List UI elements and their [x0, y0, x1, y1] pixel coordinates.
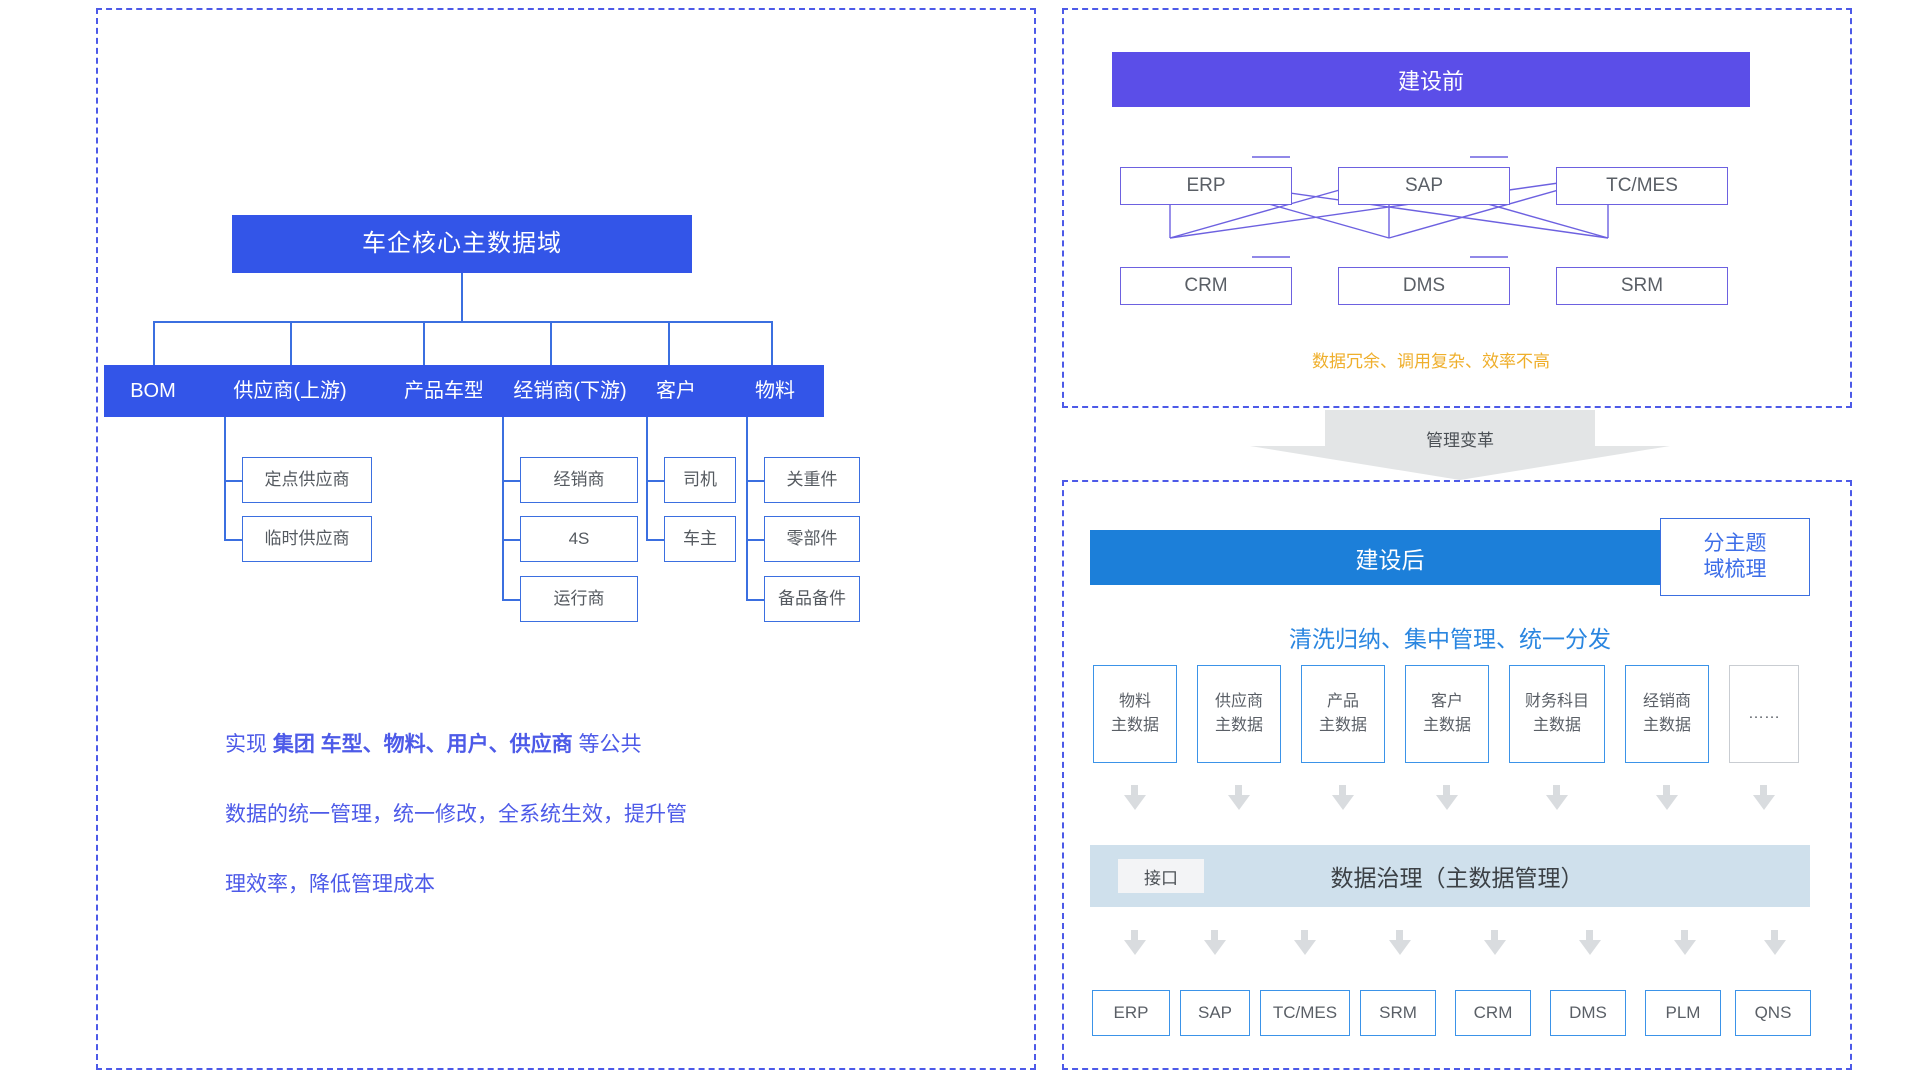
card-line-1: 物料 — [1111, 690, 1159, 714]
tree-connector — [290, 321, 292, 365]
flow-arrow-down-icon — [1546, 795, 1568, 810]
before-title: 建设前 — [1112, 52, 1750, 107]
tree-node-label: 产品车型 — [404, 380, 484, 403]
card-line-2: 主数据 — [1525, 714, 1589, 738]
flow-arrow-stem — [1339, 785, 1346, 795]
tree-connector — [771, 321, 773, 365]
card-line-1: 财务科目 — [1525, 690, 1589, 714]
tree-node-customer[interactable]: 客户 — [626, 365, 726, 417]
tree-node-material[interactable]: 物料 — [726, 365, 824, 417]
flow-arrow-stem — [1396, 930, 1403, 940]
flow-arrow-down-icon — [1294, 940, 1316, 955]
tree-connector — [746, 599, 764, 601]
target-system-dms[interactable]: DMS — [1550, 990, 1626, 1036]
flow-arrow-down-icon — [1753, 795, 1775, 810]
tree-leaf-temp-supplier[interactable]: 临时供应商 — [242, 516, 372, 562]
tree-leaf-label: 车主 — [683, 529, 717, 549]
tree-connector — [502, 539, 520, 541]
tree-connector — [153, 321, 771, 323]
tree-connector — [423, 321, 425, 365]
tree-leaf-owner[interactable]: 车主 — [664, 516, 736, 562]
tree-connector — [502, 480, 520, 482]
flow-arrow-stem — [1663, 785, 1670, 795]
tree-connector — [746, 480, 764, 482]
governance-bar: 接口 数据治理（主数据管理） — [1090, 845, 1810, 907]
target-system-tcmes[interactable]: TC/MES — [1260, 990, 1350, 1036]
system-label: DMS — [1403, 275, 1445, 297]
before-system-sap[interactable]: SAP — [1338, 167, 1510, 205]
card-line-2: 主数据 — [1643, 714, 1691, 738]
tree-leaf-operator[interactable]: 运行商 — [520, 576, 638, 622]
flow-arrow-down-icon — [1204, 940, 1226, 955]
flow-arrow-down-icon — [1228, 795, 1250, 810]
tree-connector — [746, 417, 748, 600]
system-label: SRM — [1621, 275, 1663, 297]
flow-arrow-down-icon — [1656, 795, 1678, 810]
flow-arrow-down-icon — [1484, 940, 1506, 955]
before-system-erp[interactable]: ERP — [1120, 167, 1292, 205]
tree-connector — [153, 321, 155, 365]
card-line-2: 主数据 — [1319, 714, 1367, 738]
target-system-plm[interactable]: PLM — [1645, 990, 1721, 1036]
system-label: SAP — [1405, 175, 1443, 197]
tree-node-bom[interactable]: BOM — [104, 365, 202, 417]
system-label: ERP — [1114, 1003, 1149, 1023]
summary-highlight: 集团 车型、物料、用户、供应商 — [273, 733, 573, 756]
flow-arrow-down-icon — [1436, 795, 1458, 810]
tree-leaf-label: 备品备件 — [778, 589, 846, 609]
tree-leaf-4s[interactable]: 4S — [520, 516, 638, 562]
flow-arrow-stem — [1131, 785, 1138, 795]
after-subtitle: 清洗归纳、集中管理、统一分发 — [1090, 620, 1810, 654]
master-data-card-material[interactable]: 物料 主数据 — [1093, 665, 1177, 763]
flow-arrow-stem — [1760, 785, 1767, 795]
card-line-1: 供应商 — [1215, 690, 1263, 714]
tree-leaf-label: 零部件 — [787, 529, 838, 549]
flow-arrow-stem — [1553, 785, 1560, 795]
summary-line-2: 数据的统一管理，统一修改，全系统生效，提升管 — [225, 780, 885, 850]
tree-leaf-spare-parts[interactable]: 备品备件 — [764, 576, 860, 622]
tree-leaf-dealer[interactable]: 经销商 — [520, 457, 638, 503]
tree-connector — [668, 321, 670, 365]
master-data-card-dealer[interactable]: 经销商 主数据 — [1625, 665, 1709, 763]
summary-paragraph: 实现 集团 车型、物料、用户、供应商 等公共 数据的统一管理，统一修改，全系统生… — [225, 710, 885, 920]
tree-leaf-driver[interactable]: 司机 — [664, 457, 736, 503]
tree-connector — [224, 417, 226, 540]
interface-chip[interactable]: 接口 — [1118, 859, 1204, 893]
topic-domain-badge[interactable]: 分主题 域梳理 — [1660, 518, 1810, 596]
flow-arrow-stem — [1301, 930, 1308, 940]
tree-connector — [646, 480, 664, 482]
system-label: PLM — [1666, 1003, 1701, 1023]
before-title-label: 建设前 — [1398, 64, 1464, 96]
flow-arrow-stem — [1681, 930, 1688, 940]
tree-connector — [224, 480, 242, 482]
summary-line-3: 理效率，降低管理成本 — [225, 850, 885, 920]
system-label: TC/MES — [1273, 1003, 1337, 1023]
card-line-1: 客户 — [1423, 690, 1471, 714]
before-system-srm[interactable]: SRM — [1556, 267, 1728, 305]
system-label: DMS — [1569, 1003, 1607, 1023]
card-line-2: 主数据 — [1111, 714, 1159, 738]
target-system-crm[interactable]: CRM — [1455, 990, 1531, 1036]
before-system-tcmes[interactable]: TC/MES — [1556, 167, 1728, 205]
topic-badge-line-1: 分主题 — [1704, 531, 1767, 557]
card-line-1: 产品 — [1319, 690, 1367, 714]
tree-connector — [502, 417, 504, 600]
tree-leaf-fixed-supplier[interactable]: 定点供应商 — [242, 457, 372, 503]
interface-chip-label: 接口 — [1144, 864, 1178, 889]
card-line-2: 主数据 — [1423, 714, 1471, 738]
flow-arrow-stem — [1211, 930, 1218, 940]
flow-arrow-stem — [1771, 930, 1778, 940]
master-data-card-more[interactable]: …… — [1729, 665, 1799, 763]
tree-node-supplier[interactable]: 供应商(上游) — [202, 365, 378, 417]
tree-connector — [224, 539, 242, 541]
tree-leaf-label: 关重件 — [787, 470, 838, 490]
tree-connector — [461, 273, 463, 321]
flow-arrow-down-icon — [1674, 940, 1696, 955]
flow-arrow-stem — [1443, 785, 1450, 795]
card-line-1: …… — [1748, 702, 1780, 726]
card-line-1: 经销商 — [1643, 690, 1691, 714]
tree-leaf-label: 4S — [569, 529, 590, 549]
before-problem-note: 数据冗余、调用复杂、效率不高 — [1112, 347, 1750, 372]
card-line-2: 主数据 — [1215, 714, 1263, 738]
flow-arrow-stem — [1491, 930, 1498, 940]
flow-arrow-down-icon — [1124, 940, 1146, 955]
after-title: 建设后 — [1090, 530, 1690, 585]
governance-title: 数据治理（主数据管理） — [1204, 859, 1710, 893]
master-data-card-customer[interactable]: 客户 主数据 — [1405, 665, 1489, 763]
after-title-label: 建设后 — [1356, 541, 1425, 575]
system-label: CRM — [1184, 275, 1227, 297]
before-system-dms[interactable]: DMS — [1338, 267, 1510, 305]
system-label: CRM — [1474, 1003, 1513, 1023]
flow-arrow-stem — [1586, 930, 1593, 940]
tree-leaf-label: 经销商 — [554, 470, 605, 490]
flow-arrow-down-icon — [1124, 795, 1146, 810]
summary-prefix: 实现 — [225, 733, 273, 756]
tree-leaf-components[interactable]: 零部件 — [764, 516, 860, 562]
target-system-sap[interactable]: SAP — [1180, 990, 1250, 1036]
target-system-srm[interactable]: SRM — [1360, 990, 1436, 1036]
target-system-qns[interactable]: QNS — [1735, 990, 1811, 1036]
system-label: TC/MES — [1606, 175, 1678, 197]
tree-connector — [746, 539, 764, 541]
flow-arrow-stem — [1235, 785, 1242, 795]
target-system-erp[interactable]: ERP — [1092, 990, 1170, 1036]
flow-arrow-down-icon — [1332, 795, 1354, 810]
transition-arrow-wrap: 管理变革 — [1110, 410, 1810, 480]
flow-arrow-down-icon — [1764, 940, 1786, 955]
system-label: SAP — [1198, 1003, 1232, 1023]
master-data-card-finance[interactable]: 财务科目 主数据 — [1509, 665, 1605, 763]
tree-connector — [646, 539, 664, 541]
system-label: SRM — [1379, 1003, 1417, 1023]
flow-arrow-stem — [1131, 930, 1138, 940]
system-label: ERP — [1186, 175, 1225, 197]
tree-connector — [502, 599, 520, 601]
topic-badge-line-2: 域梳理 — [1704, 557, 1767, 583]
tree-root-node[interactable]: 车企核心主数据域 — [232, 215, 692, 273]
master-data-card-supplier[interactable]: 供应商 主数据 — [1197, 665, 1281, 763]
system-label: QNS — [1755, 1003, 1792, 1023]
tree-node-label: 经销商(下游) — [513, 380, 626, 403]
tree-leaf-label: 运行商 — [554, 589, 605, 609]
summary-suffix: 等公共 — [573, 733, 642, 756]
tree-connector — [646, 417, 648, 540]
tree-node-label: 供应商(上游) — [233, 380, 346, 403]
flow-arrow-down-icon — [1579, 940, 1601, 955]
tree-connector — [550, 321, 552, 365]
master-data-card-product[interactable]: 产品 主数据 — [1301, 665, 1385, 763]
tree-leaf-label: 临时供应商 — [265, 529, 350, 549]
tree-node-label: 客户 — [656, 380, 696, 403]
tree-node-label: 物料 — [755, 380, 795, 403]
tree-node-label: BOM — [130, 380, 176, 403]
tree-leaf-label: 司机 — [683, 470, 717, 490]
flow-arrow-down-icon — [1389, 940, 1411, 955]
tree-leaf-label: 定点供应商 — [265, 470, 350, 490]
tree-root-label: 车企核心主数据域 — [362, 230, 562, 258]
summary-line-1: 实现 集团 车型、物料、用户、供应商 等公共 — [225, 710, 885, 780]
transition-label: 管理变革 — [1110, 426, 1810, 451]
before-system-crm[interactable]: CRM — [1120, 267, 1292, 305]
tree-leaf-key-parts[interactable]: 关重件 — [764, 457, 860, 503]
